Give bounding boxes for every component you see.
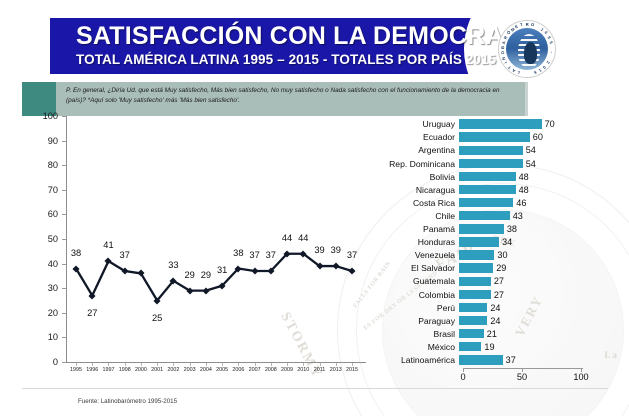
line-y-tick-label: 90	[34, 136, 58, 146]
bar-category-label: Chile	[367, 211, 459, 221]
bar-fill	[459, 290, 491, 299]
line-data-label: 25	[152, 313, 162, 323]
line-data-label: 27	[87, 308, 97, 318]
bar-fill	[459, 250, 494, 259]
line-data-label: 37	[266, 250, 276, 260]
line-y-tick-mark	[62, 362, 66, 363]
bar-value-label: 54	[523, 145, 536, 155]
line-x-tick-mark	[92, 363, 93, 366]
bar-category-label: Honduras	[367, 237, 459, 247]
bar-chart: Uruguay70Ecuador60Argentina54Rep. Domini…	[367, 116, 608, 388]
line-x-tick-label: 2001	[151, 367, 163, 373]
line-x-tick-mark	[238, 363, 239, 366]
line-x-tick-label: 2008	[265, 367, 277, 373]
bar-fill	[459, 159, 523, 168]
line-y-tick-label: 20	[34, 308, 58, 318]
line-data-label: 38	[233, 248, 243, 258]
bar-category-label: Perú	[367, 303, 459, 313]
page-title: SATISFACCIÓN CON LA DEMOCRACIA	[76, 22, 547, 51]
bar-chart-row: México19	[367, 342, 577, 353]
bar-track: 54	[459, 145, 577, 156]
line-data-label: 31	[217, 265, 227, 275]
bar-value-label: 21	[484, 329, 497, 339]
bar-chart-row: Colombia27	[367, 289, 577, 300]
line-x-tick-label: 1997	[102, 367, 114, 373]
line-x-tick-mark	[141, 363, 142, 366]
bar-chart-row: Argentina54	[367, 145, 577, 156]
bar-fill	[459, 342, 481, 351]
bar-x-tick-label: 0	[460, 372, 465, 382]
question-box: P. En general, ¿Diría Ud. que está Muy s…	[56, 82, 528, 116]
bar-category-label: Uruguay	[367, 119, 459, 129]
line-x-tick-mark	[320, 363, 321, 366]
bar-value-label: 48	[516, 185, 529, 195]
line-x-tick-mark	[271, 363, 272, 366]
line-data-label: 29	[184, 270, 194, 280]
line-x-tick-mark	[255, 363, 256, 366]
bar-fill	[459, 316, 487, 325]
title-banner: SATISFACCIÓN CON LA DEMOCRACIA TOTAL AMÉ…	[50, 18, 550, 74]
line-chart-y-axis: 0102030405060708090100	[30, 116, 58, 362]
bar-track: 38	[459, 224, 577, 235]
line-x-tick-mark	[206, 363, 207, 366]
bar-category-label: Latinoamérica	[367, 355, 459, 365]
line-data-label: 37	[249, 250, 259, 260]
line-y-tick-label: 50	[34, 234, 58, 244]
bar-fill	[459, 355, 503, 364]
line-y-tick-label: 70	[34, 185, 58, 195]
line-data-label: 39	[314, 245, 324, 255]
line-x-tick-label: 2006	[232, 367, 244, 373]
source-note: Fuente: Latinobarómetro 1995-2015	[78, 398, 177, 405]
line-x-tick-mark	[108, 363, 109, 366]
page-subtitle: TOTAL AMÉRICA LATINA 1995 – 2015 - TOTAL…	[76, 52, 496, 67]
question-row: P. En general, ¿Diría Ud. que está Muy s…	[22, 82, 528, 116]
line-x-tick-label: 2005	[216, 367, 228, 373]
bar-fill	[459, 185, 516, 194]
line-x-tick-mark	[287, 363, 288, 366]
line-y-tick-label: 100	[34, 111, 58, 121]
line-x-tick-label: 2004	[200, 367, 212, 373]
line-y-tick-mark	[62, 239, 66, 240]
bar-track: 29	[459, 263, 577, 274]
line-x-tick-label: 2009	[281, 367, 293, 373]
bar-track: 54	[459, 158, 577, 169]
line-x-tick-label: 1995	[70, 367, 82, 373]
bar-chart-row: Latinoamérica37	[367, 355, 577, 366]
bar-track: 37	[459, 355, 577, 366]
bar-value-label: 27	[491, 276, 504, 286]
line-y-tick-label: 60	[34, 209, 58, 219]
line-chart-x-axis-line	[66, 362, 366, 363]
bar-category-label: Guatemala	[367, 276, 459, 286]
line-x-tick-mark	[352, 363, 353, 366]
bar-category-label: Costa Rica	[367, 198, 459, 208]
bar-value-label: 24	[487, 316, 500, 326]
bar-value-label: 34	[499, 237, 512, 247]
bar-value-label: 54	[523, 159, 536, 169]
line-y-tick-mark	[62, 313, 66, 314]
bar-fill	[459, 277, 491, 286]
line-y-tick-mark	[62, 288, 66, 289]
bar-category-label: Colombia	[367, 290, 459, 300]
line-y-tick-mark	[62, 165, 66, 166]
bar-track: 70	[459, 119, 577, 130]
bar-track: 24	[459, 316, 577, 327]
line-chart: 0102030405060708090100 38274137362533292…	[22, 116, 367, 388]
bar-track: 21	[459, 329, 577, 340]
line-x-tick-label: 2013	[330, 367, 342, 373]
line-x-tick-mark	[336, 363, 337, 366]
bar-category-label: México	[367, 342, 459, 352]
line-y-tick-label: 30	[34, 283, 58, 293]
bar-track: 30	[459, 250, 577, 261]
bar-chart-row: Bolivia48	[367, 171, 577, 182]
line-data-label: 41	[103, 240, 113, 250]
bar-fill	[459, 329, 484, 338]
bar-fill	[459, 132, 530, 141]
line-x-tick-label: 1996	[86, 367, 98, 373]
line-data-label: 39	[331, 245, 341, 255]
bar-track: 27	[459, 289, 577, 300]
line-y-tick-mark	[62, 116, 66, 117]
bar-fill	[459, 224, 504, 233]
bar-value-label: 60	[530, 132, 543, 142]
charts-container: 0102030405060708090100 38274137362533292…	[22, 116, 608, 389]
line-chart-plot-area: 382741373625332929313837374444393937	[66, 116, 366, 362]
bar-track: 46	[459, 198, 577, 209]
bar-fill	[459, 303, 487, 312]
line-data-label: 29	[201, 270, 211, 280]
line-y-tick-mark	[62, 337, 66, 338]
bar-category-label: Rep. Dominicana	[367, 159, 459, 169]
bar-value-label: 48	[516, 172, 529, 182]
bar-category-label: Bolivia	[367, 172, 459, 182]
bar-value-label: 70	[542, 119, 555, 129]
line-y-tick-mark	[62, 141, 66, 142]
line-x-tick-mark	[303, 363, 304, 366]
bar-value-label: 38	[504, 224, 517, 234]
line-x-tick-label: 2010	[297, 367, 309, 373]
line-y-tick-mark	[62, 264, 66, 265]
line-data-label: 44	[298, 233, 308, 243]
line-x-tick-label: 2015	[346, 367, 358, 373]
bar-track: 19	[459, 342, 577, 353]
line-x-tick-label: 2000	[135, 367, 147, 373]
bar-value-label: 46	[513, 198, 526, 208]
question-text: P. En general, ¿Diría Ud. que está Muy s…	[66, 86, 517, 106]
line-data-label: 37	[120, 250, 130, 260]
bar-fill	[459, 237, 499, 246]
line-x-tick-label: 2011	[314, 367, 326, 373]
bar-track: 48	[459, 185, 577, 196]
bar-category-label: Nicaragua	[367, 185, 459, 195]
bar-category-label: Paraguay	[367, 316, 459, 326]
bar-chart-row: Ecuador60	[367, 132, 577, 143]
bar-chart-row: Costa Rica46	[367, 198, 577, 209]
line-x-tick-mark	[173, 363, 174, 366]
line-y-tick-label: 0	[34, 357, 58, 367]
bar-category-label: Venezuela	[367, 250, 459, 260]
line-data-label: 38	[71, 248, 81, 258]
line-data-label: 37	[347, 250, 357, 260]
bar-chart-row: Honduras34	[367, 237, 577, 248]
bar-value-label: 19	[481, 342, 494, 352]
bar-track: 60	[459, 132, 577, 143]
bar-category-label: El Salvador	[367, 263, 459, 273]
bar-track: 43	[459, 211, 577, 222]
bar-chart-row: El Salvador29	[367, 263, 577, 274]
logo-arc-text: LATINOBARÓMETRO 1995 - 2015	[498, 20, 556, 78]
bar-chart-row: Brasil21	[367, 329, 577, 340]
bar-category-label: Ecuador	[367, 132, 459, 142]
line-x-tick-mark	[125, 363, 126, 366]
line-y-tick-mark	[62, 214, 66, 215]
bar-fill	[459, 172, 516, 181]
line-y-tick-mark	[62, 190, 66, 191]
bar-chart-row: Paraguay24	[367, 316, 577, 327]
line-x-tick-label: 2002	[167, 367, 179, 373]
bar-chart-x-axis-line	[463, 368, 583, 369]
line-x-tick-mark	[157, 363, 158, 366]
line-y-tick-label: 40	[34, 259, 58, 269]
bar-chart-row: Perú24	[367, 302, 577, 313]
bar-chart-row: Venezuela30	[367, 250, 577, 261]
bar-category-label: Panamá	[367, 224, 459, 234]
line-x-tick-label: 1998	[119, 367, 131, 373]
bar-fill	[459, 198, 513, 207]
bar-value-label: 30	[494, 250, 507, 260]
line-data-label: 33	[168, 260, 178, 270]
bar-chart-row: Guatemala27	[367, 276, 577, 287]
slide-root: FAIR STORMY VERY THE ES FOR DRY OR LESS …	[0, 0, 629, 416]
bar-value-label: 29	[493, 263, 506, 273]
bar-chart-row: Panamá38	[367, 224, 577, 235]
line-x-tick-label: 2007	[249, 367, 261, 373]
bar-track: 34	[459, 237, 577, 248]
bar-chart-row: Chile43	[367, 211, 577, 222]
bar-track: 48	[459, 171, 577, 182]
bar-chart-row: Nicaragua48	[367, 185, 577, 196]
bar-fill	[459, 263, 493, 272]
line-x-tick-mark	[222, 363, 223, 366]
bar-chart-row: Uruguay70	[367, 119, 577, 130]
line-y-tick-label: 80	[34, 160, 58, 170]
bar-fill	[459, 146, 523, 155]
bar-value-label: 43	[510, 211, 523, 221]
bar-fill	[459, 211, 510, 220]
bar-fill	[459, 119, 542, 128]
bar-track: 27	[459, 276, 577, 287]
bar-x-tick-label: 100	[573, 372, 588, 382]
line-x-tick-mark	[190, 363, 191, 366]
line-y-tick-label: 10	[34, 332, 58, 342]
bar-track: 24	[459, 302, 577, 313]
bar-category-label: Brasil	[367, 329, 459, 339]
bar-value-label: 37	[503, 355, 516, 365]
line-x-tick-mark	[76, 363, 77, 366]
bar-x-tick-label: 50	[517, 372, 527, 382]
line-data-label: 44	[282, 233, 292, 243]
bar-value-label: 27	[491, 290, 504, 300]
line-chart-series-path	[66, 116, 366, 362]
bar-chart-row: Rep. Dominicana54	[367, 158, 577, 169]
bar-value-label: 24	[487, 303, 500, 313]
line-x-tick-label: 2003	[184, 367, 196, 373]
latinobarometro-logo: LATINOBARÓMETRO 1995 - 2015	[498, 20, 556, 78]
bar-category-label: Argentina	[367, 145, 459, 155]
